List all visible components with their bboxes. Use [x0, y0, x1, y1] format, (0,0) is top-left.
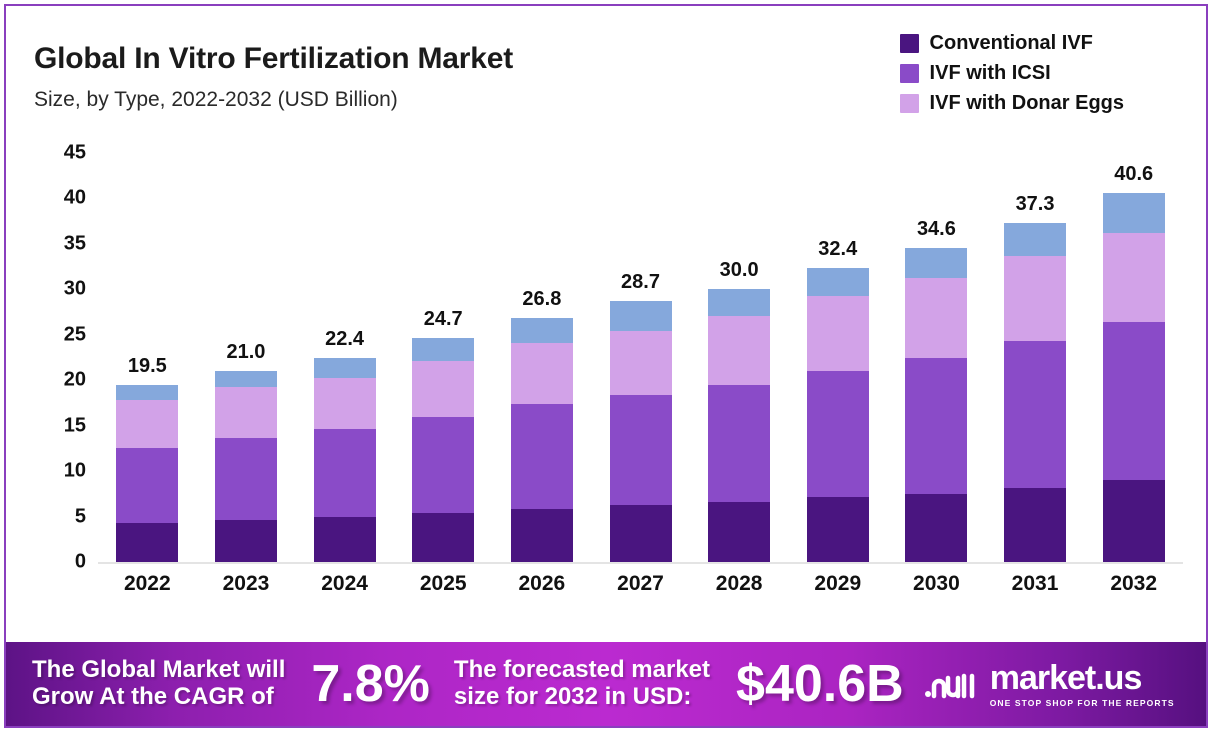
bar-segment-ivf-with-donar-eggs[interactable]	[412, 361, 474, 416]
bar-stack[interactable]	[314, 358, 376, 562]
logo-tagline: ONE STOP SHOP FOR THE REPORTS	[990, 698, 1175, 708]
bar-segment-ivf-with-donar-eggs[interactable]	[905, 278, 967, 357]
bar-value-label: 26.8	[522, 288, 561, 311]
x-axis-tick-label: 2022	[97, 572, 197, 596]
bar-segment-ivf-with-donar-eggs[interactable]	[314, 378, 376, 430]
bar-segment-ivf-with-icsi[interactable]	[807, 371, 869, 496]
bar-segment-ivf-with-donar-eggs[interactable]	[511, 343, 573, 404]
bar-segment-others[interactable]	[412, 338, 474, 362]
bar-segment-others[interactable]	[610, 301, 672, 331]
banner-forecast-value: $40.6B	[736, 654, 904, 714]
bar-value-label: 22.4	[325, 328, 364, 351]
legend-label: Conventional IVF	[930, 32, 1093, 55]
bar-value-label: 34.6	[917, 218, 956, 241]
bar-segment-others[interactable]	[215, 371, 277, 386]
y-axis-tick-label: 15	[64, 414, 86, 437]
bar-stack[interactable]	[1004, 223, 1066, 562]
legend-swatch-icon	[900, 94, 919, 113]
bar-segment-conventional-ivf[interactable]	[116, 523, 178, 562]
logo-name: market.us	[990, 661, 1175, 695]
bar-stack[interactable]	[215, 371, 277, 562]
bar-segment-others[interactable]	[807, 268, 869, 296]
bar-stack[interactable]	[708, 289, 770, 562]
bar-segment-ivf-with-icsi[interactable]	[116, 448, 178, 523]
bar-segment-others[interactable]	[708, 289, 770, 315]
y-axis-tick-label: 40	[64, 187, 86, 210]
bar-segment-others[interactable]	[314, 358, 376, 377]
chart-card: Global In Vitro Fertilization Market Siz…	[4, 4, 1208, 728]
bar-segment-ivf-with-icsi[interactable]	[905, 358, 967, 494]
bar-segment-conventional-ivf[interactable]	[314, 517, 376, 562]
bar-segment-conventional-ivf[interactable]	[610, 505, 672, 562]
market-us-logo: market.us ONE STOP SHOP FOR THE REPORTS	[924, 661, 1175, 708]
bar-segment-conventional-ivf[interactable]	[1103, 480, 1165, 562]
bar-stack[interactable]	[511, 318, 573, 562]
x-axis-line	[98, 562, 1183, 564]
legend-label: IVF with Donar Eggs	[930, 92, 1124, 115]
legend-item[interactable]: IVF with ICSI	[900, 58, 1124, 88]
x-axis-tick-label: 2024	[295, 572, 395, 596]
x-axis-tick-label: 2025	[393, 572, 493, 596]
bar-segment-ivf-with-donar-eggs[interactable]	[807, 296, 869, 371]
bar-segment-others[interactable]	[511, 318, 573, 343]
legend-item[interactable]: IVF with Donar Eggs	[900, 88, 1124, 118]
bar-segment-conventional-ivf[interactable]	[708, 502, 770, 562]
bar-segment-ivf-with-icsi[interactable]	[412, 417, 474, 513]
bar-segment-conventional-ivf[interactable]	[412, 513, 474, 562]
y-axis-tick-label: 5	[75, 505, 86, 528]
bar-segment-ivf-with-icsi[interactable]	[708, 385, 770, 502]
x-axis-tick-label: 2030	[886, 572, 986, 596]
banner-forecast-label: The forecasted market size for 2032 in U…	[454, 657, 710, 711]
bar-segment-ivf-with-donar-eggs[interactable]	[215, 387, 277, 438]
bar-value-label: 37.3	[1016, 193, 1055, 216]
y-axis-tick-label: 20	[64, 369, 86, 392]
bar-segment-others[interactable]	[905, 248, 967, 279]
x-axis-tick-label: 2032	[1084, 572, 1184, 596]
bar-stack[interactable]	[412, 338, 474, 562]
banner-cagr-label: The Global Market will Grow At the CAGR …	[32, 657, 285, 711]
y-axis: 051015202530354045	[40, 6, 86, 728]
legend-label: IVF with ICSI	[930, 62, 1051, 85]
bar-stack[interactable]	[1103, 193, 1165, 562]
bar-value-label: 24.7	[424, 308, 463, 331]
bar-value-label: 19.5	[128, 355, 167, 378]
chart-legend: Conventional IVFIVF with ICSIIVF with Do…	[900, 28, 1124, 118]
bar-stack[interactable]	[905, 248, 967, 562]
legend-swatch-icon	[900, 64, 919, 83]
bar-value-label: 30.0	[720, 259, 759, 282]
page-subtitle: Size, by Type, 2022-2032 (USD Billion)	[34, 88, 398, 112]
bar-value-label: 40.6	[1114, 163, 1153, 186]
bar-segment-ivf-with-donar-eggs[interactable]	[116, 400, 178, 448]
bar-stack[interactable]	[807, 268, 869, 562]
x-axis-tick-label: 2028	[689, 572, 789, 596]
plot-area: 19.521.022.424.726.828.730.032.434.637.3…	[98, 149, 1183, 562]
bar-segment-ivf-with-donar-eggs[interactable]	[1103, 233, 1165, 322]
bar-segment-conventional-ivf[interactable]	[511, 509, 573, 562]
bar-segment-conventional-ivf[interactable]	[807, 497, 869, 562]
page-title: Global In Vitro Fertilization Market	[34, 42, 513, 76]
x-axis-tick-label: 2023	[196, 572, 296, 596]
y-axis-tick-label: 10	[64, 460, 86, 483]
market-us-logo-icon	[924, 664, 980, 704]
bar-segment-ivf-with-icsi[interactable]	[314, 429, 376, 517]
legend-swatch-icon	[900, 34, 919, 53]
bar-segment-ivf-with-icsi[interactable]	[511, 404, 573, 509]
bottom-banner: The Global Market will Grow At the CAGR …	[6, 642, 1206, 726]
bar-value-label: 32.4	[818, 238, 857, 261]
bar-segment-ivf-with-donar-eggs[interactable]	[610, 331, 672, 395]
bar-segment-conventional-ivf[interactable]	[1004, 488, 1066, 562]
bar-segment-ivf-with-icsi[interactable]	[215, 438, 277, 521]
y-axis-tick-label: 45	[64, 142, 86, 165]
x-axis-tick-label: 2026	[492, 572, 592, 596]
y-axis-tick-label: 35	[64, 232, 86, 255]
bar-segment-others[interactable]	[1004, 223, 1066, 256]
x-axis-tick-label: 2029	[788, 572, 888, 596]
bar-segment-conventional-ivf[interactable]	[215, 520, 277, 562]
bar-segment-conventional-ivf[interactable]	[905, 494, 967, 562]
bar-value-label: 21.0	[226, 341, 265, 364]
banner-cagr-value: 7.8%	[311, 654, 430, 714]
bar-segment-ivf-with-icsi[interactable]	[610, 395, 672, 505]
bar-segment-ivf-with-icsi[interactable]	[1004, 341, 1066, 488]
x-axis-tick-label: 2031	[985, 572, 1085, 596]
legend-item[interactable]: Conventional IVF	[900, 28, 1124, 58]
bar-segment-others[interactable]	[116, 385, 178, 400]
bar-value-label: 28.7	[621, 271, 660, 294]
bar-segment-others[interactable]	[1103, 193, 1165, 233]
bar-segment-ivf-with-donar-eggs[interactable]	[1004, 256, 1066, 341]
y-axis-tick-label: 0	[75, 551, 86, 574]
bar-segment-ivf-with-icsi[interactable]	[1103, 322, 1165, 480]
bar-segment-ivf-with-donar-eggs[interactable]	[708, 316, 770, 385]
bar-stack[interactable]	[610, 301, 672, 562]
bar-stack[interactable]	[116, 385, 178, 562]
y-axis-tick-label: 30	[64, 278, 86, 301]
y-axis-tick-label: 25	[64, 323, 86, 346]
x-axis-tick-label: 2027	[591, 572, 691, 596]
